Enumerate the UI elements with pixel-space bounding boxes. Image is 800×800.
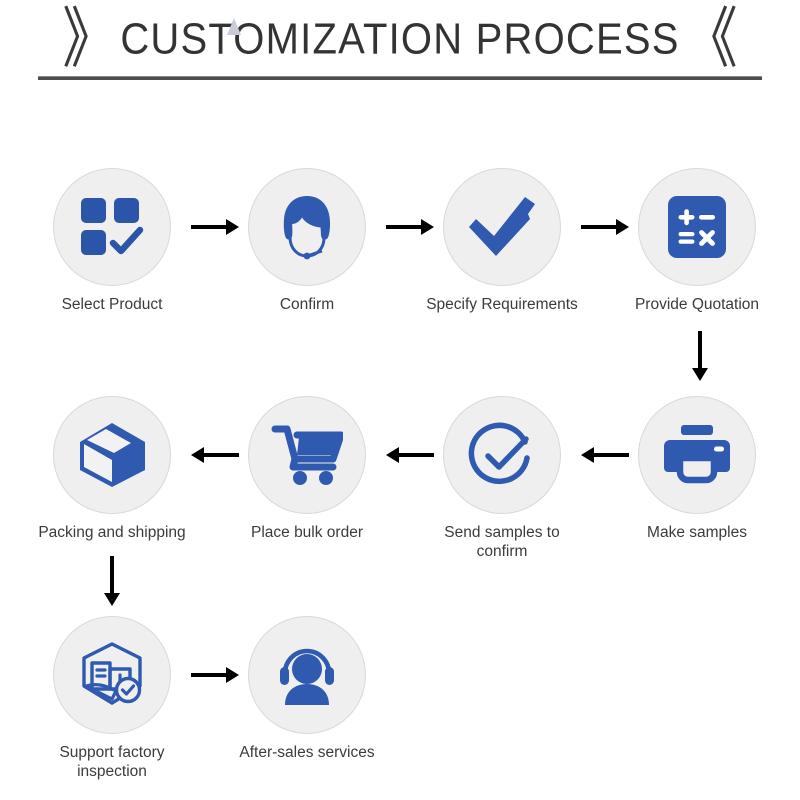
step-icon-circle [638, 396, 756, 514]
arrow-step4-to-step5 [688, 331, 712, 381]
step-node-send-samples-to-confirm[interactable]: Send samples to confirm [417, 396, 587, 561]
select-product-icon [79, 196, 145, 258]
arrow-shaft [396, 453, 434, 457]
step-label: Provide Quotation [612, 295, 782, 314]
step-icon-circle [248, 396, 366, 514]
arrow-head [692, 368, 708, 381]
arrow-shaft [591, 453, 629, 457]
step-label: Make samples [612, 523, 782, 542]
step-icon-circle [443, 396, 561, 514]
arrow-shaft [698, 331, 702, 371]
step-node-specify-requirements[interactable]: Specify Requirements [417, 168, 587, 314]
step-label: Packing and shipping [27, 523, 197, 542]
calculator-icon [666, 194, 728, 260]
step-icon-circle [638, 168, 756, 286]
arrow-step5-to-step6 [581, 443, 629, 467]
left-chevron-icon: 》 [62, 6, 116, 72]
step-icon-circle [53, 396, 171, 514]
title-row: 》 CUSTOMIZATION PROCESS 《 [0, 8, 800, 70]
headphones-person-icon [272, 643, 342, 707]
step-label: Confirm [222, 295, 392, 314]
step-node-select-product[interactable]: Select Product [27, 168, 197, 314]
factory-shield-check-icon [76, 641, 148, 709]
arrow-step8-to-step9 [100, 556, 124, 606]
step-icon-circle [443, 168, 561, 286]
step-label: Select Product [27, 295, 197, 314]
step-node-place-bulk-order[interactable]: Place bulk order [222, 396, 392, 542]
page-title: CUSTOMIZATION PROCESS [120, 14, 679, 65]
step-label: After-sales services [222, 743, 392, 762]
step-node-make-samples[interactable]: Make samples [612, 396, 782, 542]
title-divider [38, 76, 762, 80]
step-label: Send samples to confirm [417, 523, 587, 561]
step-icon-circle [53, 168, 171, 286]
step-label: Place bulk order [222, 523, 392, 542]
circle-check-icon [467, 420, 537, 490]
arrow-step6-to-step7 [386, 443, 434, 467]
step-icon-circle [248, 168, 366, 286]
step-icon-circle [53, 616, 171, 734]
step-label: Specify Requirements [417, 295, 587, 314]
step-icon-circle [248, 616, 366, 734]
step-label: Support factory inspection [27, 743, 197, 781]
arrow-shaft [110, 556, 114, 596]
step-node-after-sales-services[interactable]: After-sales services [222, 616, 392, 762]
step-node-confirm[interactable]: Confirm [222, 168, 392, 314]
checkmark-icon [466, 195, 538, 259]
package-box-icon [76, 420, 148, 490]
arrow-step7-to-step8 [191, 443, 239, 467]
shopping-cart-icon [271, 423, 343, 487]
step-node-support-factory-inspection[interactable]: Support factory inspection [27, 616, 197, 781]
right-chevron-icon: 《 [684, 6, 738, 72]
arrow-head [104, 593, 120, 606]
step-node-provide-quotation[interactable]: Provide Quotation [612, 168, 782, 314]
arrow-shaft [201, 453, 239, 457]
page-header: 》 CUSTOMIZATION PROCESS 《 [0, 0, 800, 92]
headset-agent-icon [272, 193, 342, 261]
printer-icon [662, 424, 732, 486]
step-node-packing-and-shipping[interactable]: Packing and shipping [27, 396, 197, 542]
